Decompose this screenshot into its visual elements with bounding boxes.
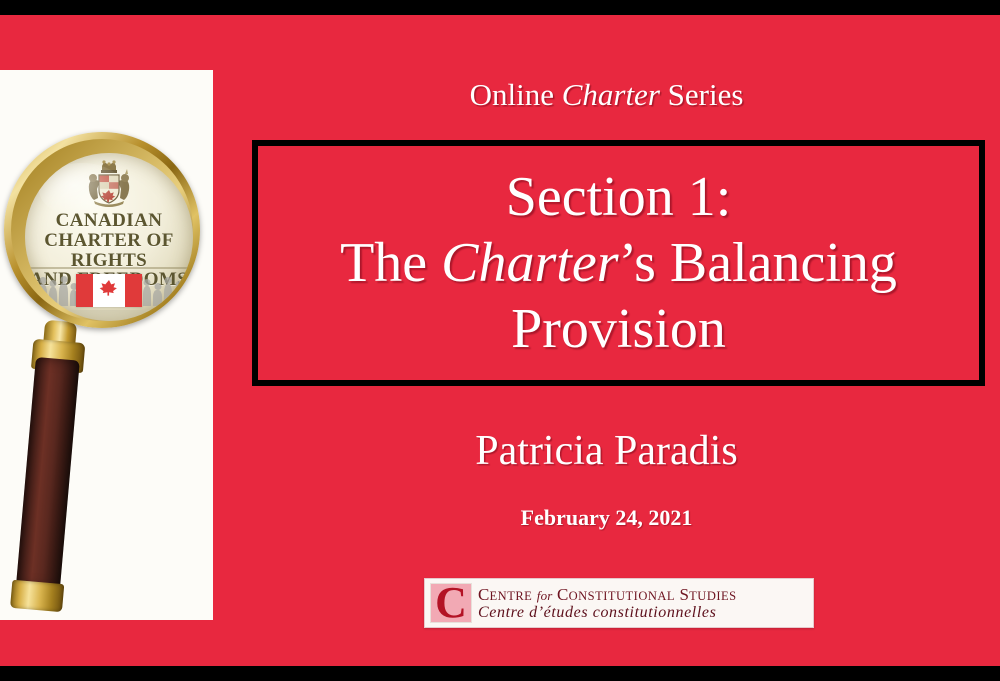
people-silhouettes-right (143, 276, 191, 306)
canadian-flag-icon (76, 274, 142, 307)
maple-leaf-icon (98, 279, 120, 303)
title-box: Section 1: The Charter’s Balancing Provi… (252, 140, 985, 386)
logo-en-for: for (537, 588, 553, 603)
lens-text-line-2: CHARTER OF RIGHTS (25, 231, 193, 271)
presenter-name: Patricia Paradis (213, 427, 1000, 475)
people-silhouettes-left (27, 276, 75, 306)
lens-text-line-1: CANADIAN (25, 211, 193, 231)
letterbox-bar-top (0, 0, 1000, 15)
logo-en-tudies: TUDIES (689, 589, 736, 603)
magnifying-glass-illustration: CANADIAN CHARTER OF RIGHTS AND FREEDOMS (0, 70, 213, 620)
canadian-coat-of-arms-icon (82, 159, 136, 213)
flag-bar-left (76, 274, 93, 307)
title-line-1: Section 1: (258, 164, 979, 230)
artwork-panel: CANADIAN CHARTER OF RIGHTS AND FREEDOMS (0, 70, 213, 620)
presentation-date: February 24, 2021 (213, 505, 1000, 531)
magnifier-handle (4, 332, 90, 620)
band-divider (25, 267, 193, 269)
slide-content: Online Charter Series Section 1: The Cha… (213, 15, 1000, 666)
series-heading-italic: Charter (562, 77, 660, 112)
title-line-3: Provision (258, 296, 979, 362)
series-heading-prefix: Online (470, 77, 562, 112)
title-line-2-prefix: The (340, 232, 441, 294)
band-ground (25, 310, 193, 321)
logo-en-c1: C (478, 585, 490, 604)
logo-en-s: S (680, 585, 690, 604)
series-heading: Online Charter Series (213, 77, 1000, 113)
magnifier-lens: CANADIAN CHARTER OF RIGHTS AND FREEDOMS (25, 153, 193, 321)
magnifier-handle-shaft (16, 357, 80, 590)
flag-bar-right (125, 274, 142, 307)
logo-en-c2: C (557, 585, 569, 604)
logo-english-name: CENTRE for CONSTITUTIONAL STUDIES (478, 585, 807, 604)
series-heading-suffix: Series (660, 77, 744, 112)
title-line-2-italic: Charter (441, 232, 618, 294)
letterbox-bar-bottom (0, 666, 1000, 681)
title-line-2-suffix: ’s Balancing (619, 232, 897, 294)
logo-french-name: Centre d’études constitutionnelles (478, 604, 807, 622)
magnifier-inner-rim: CANADIAN CHARTER OF RIGHTS AND FREEDOMS (11, 139, 193, 321)
slide-title: Section 1: The Charter’s Balancing Provi… (258, 164, 979, 362)
title-line-2: The Charter’s Balancing (258, 230, 979, 296)
logo-text-block: CENTRE for CONSTITUTIONAL STUDIES Centre… (478, 585, 813, 622)
organization-logo: C CENTRE for CONSTITUTIONAL STUDIES Cent… (424, 578, 814, 628)
lens-content: CANADIAN CHARTER OF RIGHTS AND FREEDOMS (25, 153, 193, 321)
slide-canvas: CANADIAN CHARTER OF RIGHTS AND FREEDOMS (0, 15, 1000, 666)
magnifier-rim: CANADIAN CHARTER OF RIGHTS AND FREEDOMS (4, 132, 200, 328)
magnifier-ferrule-bottom (10, 580, 64, 612)
logo-en-entre: ENTRE (490, 589, 533, 603)
flag-and-people-band (25, 270, 193, 314)
logo-mark-c: C (430, 583, 472, 623)
logo-en-onstitutional: ONSTITUTIONAL (569, 589, 675, 603)
presentation-slide: CANADIAN CHARTER OF RIGHTS AND FREEDOMS (0, 0, 1000, 681)
logo-letter-c: C (435, 581, 467, 625)
